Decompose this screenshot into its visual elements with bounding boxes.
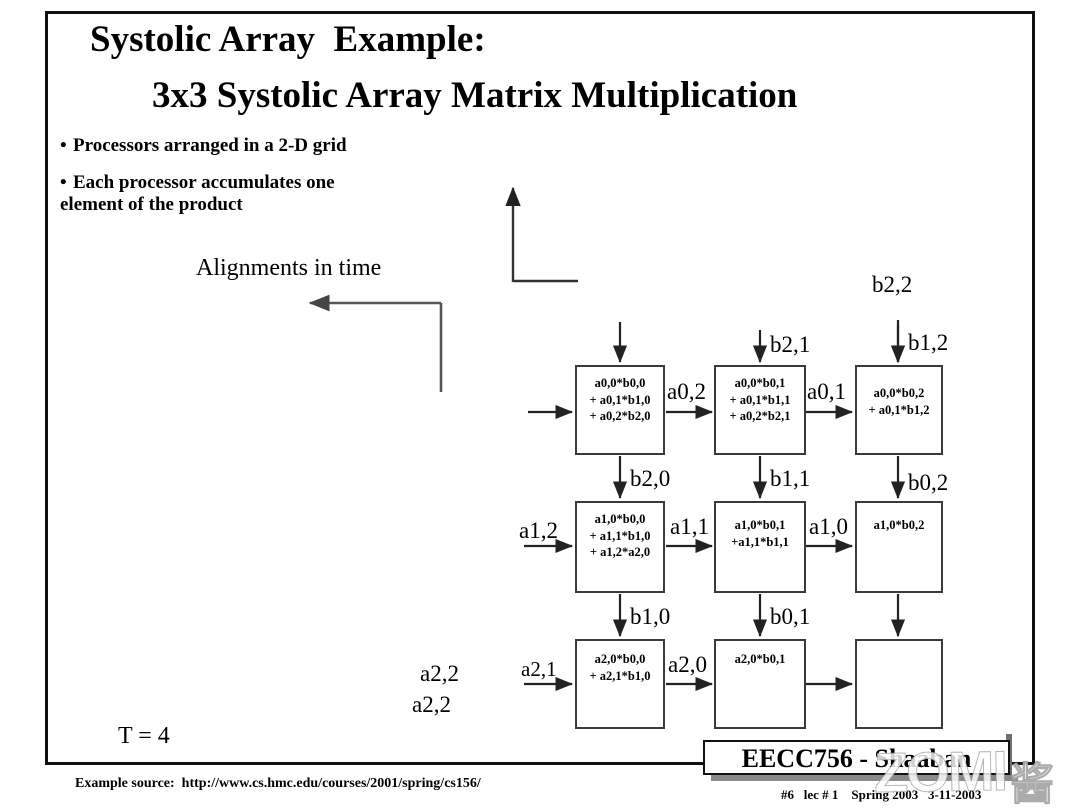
bullet-item-1: •Processors arranged in a 2-D grid <box>60 135 347 157</box>
source-note: Example source: http://www.cs.hmc.edu/co… <box>75 776 481 792</box>
edge-label-a01: a0,1 <box>807 379 846 405</box>
processor-cell-2-0[interactable]: a2,0*b0,0 + a2,1*b1,0 <box>575 639 665 729</box>
watermark-zomi: ZOMI <box>873 738 1006 805</box>
edge-label-a11: a1,1 <box>670 514 709 540</box>
edge-label-a20: a2,0 <box>668 652 707 678</box>
edge-label-b10: b1,0 <box>630 604 670 630</box>
processor-cell-1-0[interactable]: a1,0*b0,0 + a1,1*b1,0 + a1,2*a2,0 <box>575 501 665 593</box>
processor-cell-2-1-text: a2,0*b0,1 <box>716 651 804 668</box>
processor-cell-0-1-text: a0,0*b0,1 + a0,1*b1,1 + a0,2*b2,1 <box>716 375 804 425</box>
processor-cell-2-1[interactable]: a2,0*b0,1 <box>714 639 806 729</box>
bullet-text-1: Processors arranged in a 2-D grid <box>73 135 347 156</box>
processor-cell-2-0-text: a2,0*b0,0 + a2,1*b1,0 <box>577 651 663 684</box>
queued-operand-2: a2,2 <box>412 692 451 718</box>
time-step-label: T = 4 <box>118 723 170 750</box>
processor-cell-1-1[interactable]: a1,0*b0,1 +a1,1*b1,1 <box>714 501 806 593</box>
watermark-cjk-glyph: 酱 <box>1010 748 1054 812</box>
top-input-label-b12: b1,2 <box>908 330 948 356</box>
page-title-line2: 3x3 Systolic Array Matrix Multiplication <box>152 74 797 117</box>
processor-cell-0-2-text: a0,0*b0,2 + a0,1*b1,2 <box>857 385 941 418</box>
bullet-item-2: •Each processor accumulates one element … <box>60 172 335 217</box>
processor-cell-2-2[interactable] <box>855 639 943 729</box>
edge-label-b02: b0,2 <box>908 470 948 496</box>
edge-label-b01: b0,1 <box>770 604 810 630</box>
processor-cell-1-2[interactable]: a1,0*b0,2 <box>855 501 943 593</box>
left-input-label-a12: a1,2 <box>519 518 558 544</box>
edge-label-b11: b1,1 <box>770 466 810 492</box>
processor-cell-0-0-text: a0,0*b0,0 + a0,1*b1,0 + a0,2*b2,0 <box>577 375 663 425</box>
edge-label-a10: a1,0 <box>809 514 848 540</box>
bullet-dot-icon: • <box>60 135 73 157</box>
bullet-dot-icon: • <box>60 172 73 194</box>
processor-cell-0-2[interactable]: a0,0*b0,2 + a0,1*b1,2 <box>855 365 943 455</box>
processor-cell-1-1-text: a1,0*b0,1 +a1,1*b1,1 <box>716 517 804 550</box>
edge-label-a02: a0,2 <box>667 379 706 405</box>
edge-label-b20: b2,0 <box>630 466 670 492</box>
processor-cell-0-1[interactable]: a0,0*b0,1 + a0,1*b1,1 + a0,2*b2,1 <box>714 365 806 455</box>
slide-canvas: Systolic Array Example: 3x3 Systolic Arr… <box>0 0 1080 810</box>
alignments-in-time-label: Alignments in time <box>196 255 381 282</box>
processor-cell-1-0-text: a1,0*b0,0 + a1,1*b1,0 + a1,2*a2,0 <box>577 511 663 561</box>
page-title-line1: Systolic Array Example: <box>90 18 486 61</box>
left-input-label-a21: a2,1 <box>521 657 557 682</box>
queued-operand-1: a2,2 <box>420 661 459 687</box>
floating-operand-b22: b2,2 <box>872 272 912 298</box>
bullet-text-2: Each processor accumulates one element o… <box>60 172 335 215</box>
processor-cell-0-0[interactable]: a0,0*b0,0 + a0,1*b1,0 + a0,2*b2,0 <box>575 365 665 455</box>
processor-cell-1-2-text: a1,0*b0,2 <box>857 517 941 534</box>
top-input-label-b21: b2,1 <box>770 332 810 358</box>
